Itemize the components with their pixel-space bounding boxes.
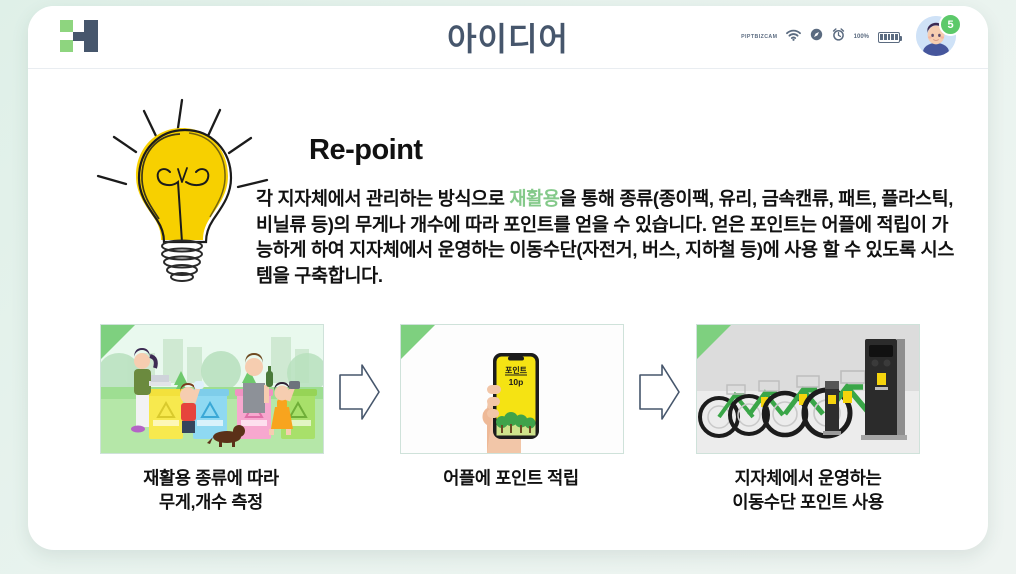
section-heading: Re-point [309,134,423,167]
flow-step-2-image: 포인트 10p [400,324,624,454]
phone-point-value: 10p [509,377,524,387]
flow-arrow-icon [636,361,682,423]
flow-step-1-image [100,324,324,454]
flow-step-1-caption: 재활용 종류에 따라 무게,개수 측정 [81,466,341,514]
slide-header: 아이디어 PIPTBIZCAM [28,6,988,69]
paragraph-highlight-recycling: 재활용 [509,188,559,209]
battery-icon [878,32,900,43]
carrier-label: PIPTBIZCAM [741,34,777,40]
caption-line-2: 무게,개수 측정 [81,490,341,514]
flow-step-2-caption: 어플에 포인트 적립 [381,466,641,490]
paragraph-part-1: 각 지자체에서 관리하는 방식으로 [256,188,509,209]
avatar[interactable]: 5 [916,16,960,60]
green-corner-marker [401,325,435,359]
avatar-badge-count: 5 [939,13,962,36]
phone-point-label: 포인트 [505,365,528,375]
slide-card: 아이디어 PIPTBIZCAM [28,6,988,550]
compass-icon [810,28,823,46]
battery-percent-label: 100% [854,34,869,40]
caption-line-1: 재활용 종류에 따라 [81,466,341,490]
flow-arrow-icon [336,361,382,423]
flow-step-3-image [696,324,920,454]
status-bar: PIPTBIZCAM [742,28,900,46]
flow-step-3-caption: 지자체에서 운영하는 이동수단 포인트 사용 [678,466,938,514]
lightbulb-icon [86,94,276,289]
green-corner-marker [101,325,135,359]
alarm-clock-icon [832,28,845,46]
wifi-icon [786,28,801,46]
description-paragraph: 각 지자체에서 관리하는 방식으로 재활용을 통해 종류(종이팩, 유리, 금속… [256,186,962,288]
green-corner-marker [697,325,731,359]
caption-line-1: 어플에 포인트 적립 [381,466,641,490]
caption-line-2: 이동수단 포인트 사용 [678,490,938,514]
caption-line-1: 지자체에서 운영하는 [678,466,938,490]
